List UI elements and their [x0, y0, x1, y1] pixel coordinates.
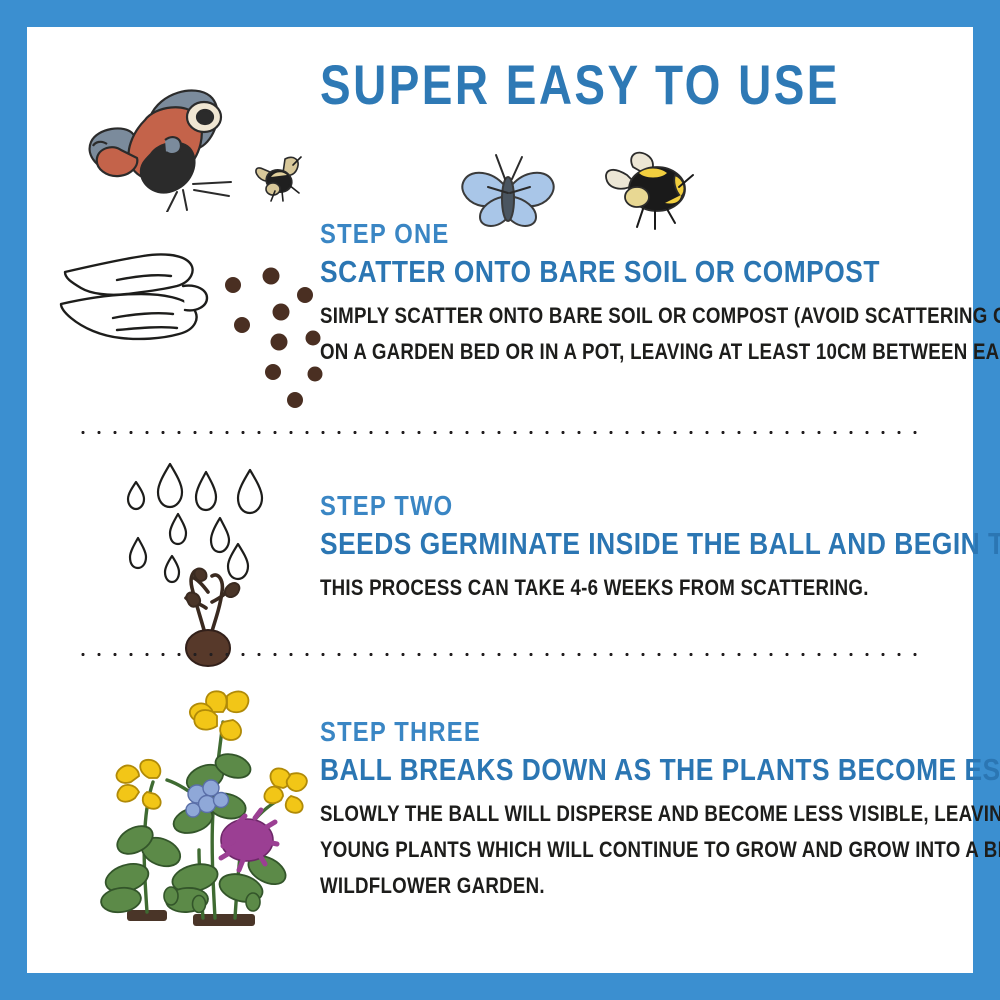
rain-and-sprout-illustration [102, 452, 317, 672]
step-two-block: STEP TWO SEEDS GERMINATE INSIDE THE BALL… [320, 489, 1000, 606]
step-one-heading: SCATTER ONTO BARE SOIL OR COMPOST [320, 252, 1000, 292]
hand-scattering-seeds-illustration [57, 232, 327, 422]
step-two-body: THIS PROCESS CAN TAKE 4-6 WEEKS FROM SCA… [320, 570, 1000, 606]
wildflowers-illustration [75, 682, 335, 942]
step-three-heading: BALL BREAKS DOWN AS THE PLANTS BECOME ES… [320, 750, 1000, 790]
step-three-body-line-3: WILDFLOWER GARDEN. [320, 868, 1000, 904]
step-three-label: STEP THREE [320, 715, 1000, 748]
step-one-block: STEP ONE SCATTER ONTO BARE SOIL OR COMPO… [320, 217, 1000, 370]
step-three-body-line-2: YOUNG PLANTS WHICH WILL CONTINUE TO GROW… [320, 832, 1000, 868]
step-three-body-line-1: SLOWLY THE BALL WILL DISPERSE AND BECOME… [320, 796, 1000, 832]
step-three-body: SLOWLY THE BALL WILL DISPERSE AND BECOME… [320, 796, 1000, 903]
content-canvas: SUPER EASY TO USE [27, 27, 973, 973]
step-three-block: STEP THREE BALL BREAKS DOWN AS THE PLANT… [320, 715, 1000, 903]
page-title: SUPER EASY TO USE [320, 57, 840, 113]
step-two-heading: SEEDS GERMINATE INSIDE THE BALL AND BEGI… [320, 524, 1000, 564]
step-two-label: STEP TWO [320, 489, 1000, 522]
section-divider-1 [75, 430, 927, 435]
small-bee-illustration [249, 149, 311, 216]
step-one-label: STEP ONE [320, 217, 1000, 250]
step-two-body-line-1: THIS PROCESS CAN TAKE 4-6 WEEKS FROM SCA… [320, 570, 1000, 606]
infographic-page: SUPER EASY TO USE [0, 0, 1000, 1000]
step-one-body: SIMPLY SCATTER ONTO BARE SOIL OR COMPOST… [320, 298, 1000, 369]
step-one-body-line-1: SIMPLY SCATTER ONTO BARE SOIL OR COMPOST… [320, 298, 1000, 334]
step-one-body-line-2: ON A GARDEN BED OR IN A POT, LEAVING AT … [320, 334, 1000, 370]
section-divider-2 [75, 652, 927, 657]
peacock-butterfly-illustration [55, 62, 270, 217]
